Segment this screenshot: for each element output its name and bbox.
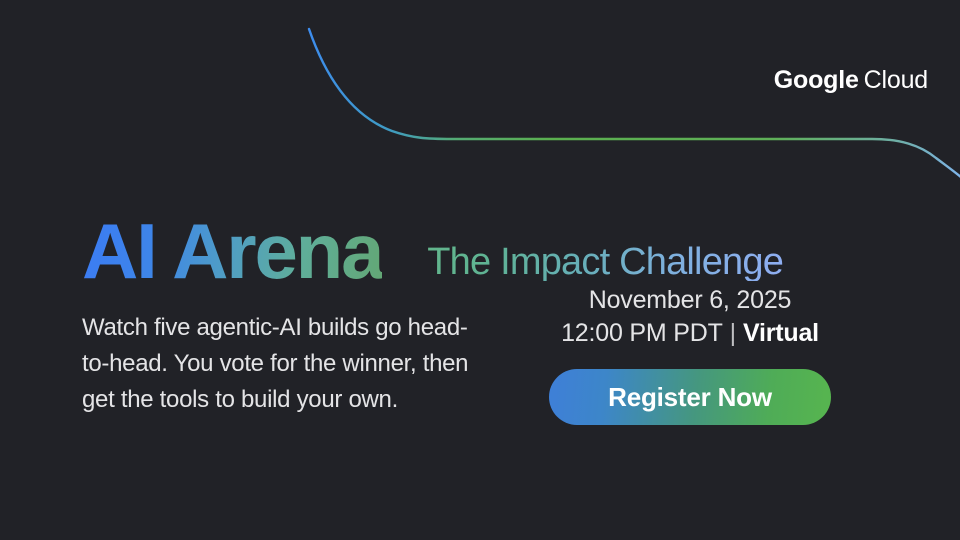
event-date: November 6, 2025 [510, 284, 870, 317]
cta-wrapper: Register Now [510, 369, 870, 425]
event-info-column: November 6, 2025 12:00 PM PDT|Virtual Re… [510, 284, 870, 425]
google-cloud-logo: GoogleCloud [774, 68, 928, 93]
event-separator: | [723, 317, 743, 350]
event-mode-badge: Virtual [743, 319, 819, 347]
event-time-value: 12:00 PM PDT [561, 319, 723, 347]
brand-name-cloud: Cloud [864, 66, 928, 94]
page-subtitle: The Impact Challenge [427, 243, 783, 281]
page-title: AI Arena [82, 212, 382, 290]
event-time-mode: 12:00 PM PDT|Virtual [510, 317, 870, 350]
event-description: Watch five agentic-AI builds go head-to-… [82, 310, 477, 418]
brand-name-google: Google [774, 66, 859, 94]
event-promo-banner: GoogleCloud AI Arena The Impact Challeng… [0, 0, 960, 540]
register-now-button[interactable]: Register Now [549, 369, 831, 425]
